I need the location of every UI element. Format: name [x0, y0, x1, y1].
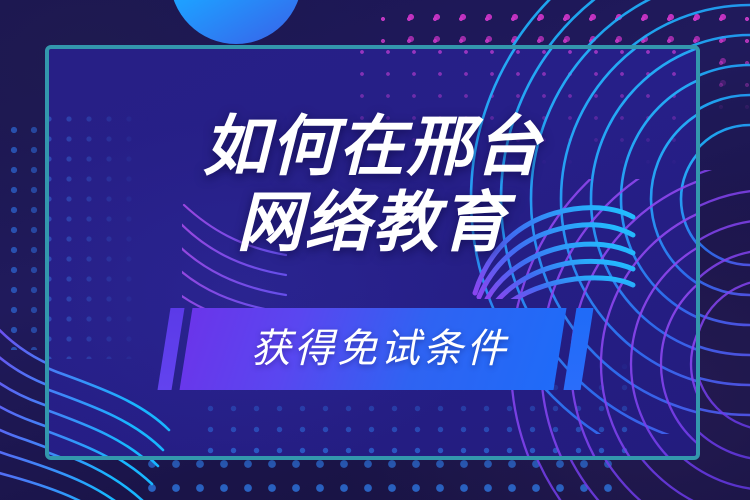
headline-line-2: 网络教育: [45, 184, 700, 260]
top-circle-icon: [170, 0, 302, 44]
subtitle-banner: 获得免试条件: [160, 308, 600, 390]
headline-line-1: 如何在邢台: [45, 108, 700, 184]
poster-banner: 如何在邢台 网络教育 获得免试条件: [0, 0, 750, 500]
headline-block: 如何在邢台 网络教育: [45, 108, 700, 260]
subtitle-text: 获得免试条件: [160, 308, 600, 390]
